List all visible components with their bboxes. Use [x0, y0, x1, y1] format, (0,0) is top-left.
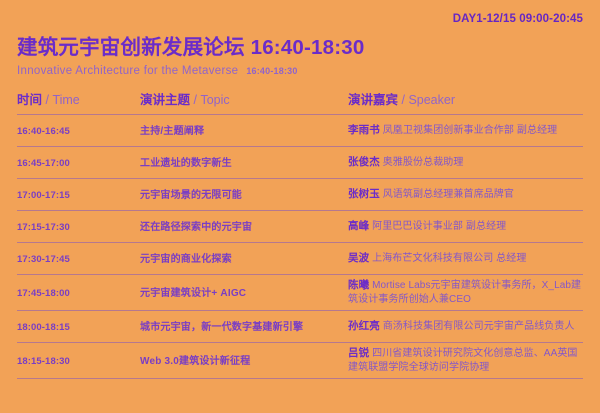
cell-speaker: 陈曦 Mortise Labs元宇宙建筑设计事务所，X_Lab建筑设计事务所创始… [348, 278, 583, 307]
session-topic: Web 3.0建筑设计新征程 [140, 356, 250, 367]
cell-topic: 工业遗址的数字新生 [140, 153, 348, 171]
cell-time: 17:00-17:15 [17, 185, 140, 203]
column-header-speaker: 演讲嘉宾 / Speaker [348, 93, 583, 108]
session-topic: 元宇宙建筑设计+ AIGC [140, 288, 246, 299]
session-topic: 元宇宙场景的无限可能 [140, 190, 242, 201]
table-row: 17:00-17:15 元宇宙场景的无限可能 张树玉 风语筑副总经理兼首席品牌官 [17, 179, 583, 211]
page-title: 建筑元宇宙创新发展论坛 16:40-18:30 [17, 35, 583, 61]
cell-topic: 城市元宇宙，新一代数字基建新引擎 [140, 317, 348, 335]
speaker-name: 陈曦 [348, 279, 369, 291]
speaker-title: 风语筑副总经理兼首席品牌官 [383, 189, 514, 200]
column-header-time-cn: 时间 [17, 93, 42, 107]
session-topic: 元宇宙的商业化探索 [140, 254, 232, 265]
top-bar: DAY1-12/15 09:00-20:45 [17, 0, 583, 30]
cell-topic: 主持/主题阐释 [140, 121, 348, 139]
speaker-title: 商汤科技集团有限公司元宇宙产品线负责人 [383, 321, 575, 332]
cell-speaker: 李雨书 凤凰卫视集团创新事业合作部 副总经理 [348, 123, 583, 138]
cell-time: 16:40-16:45 [17, 121, 140, 139]
schedule-poster: DAY1-12/15 09:00-20:45 建筑元宇宙创新发展论坛 16:40… [0, 0, 600, 413]
cell-time: 17:30-17:45 [17, 249, 140, 267]
cell-speaker: 张俊杰 奥雅股份总裁助理 [348, 155, 583, 170]
table-row: 17:30-17:45 元宇宙的商业化探索 吴波 上海布芒文化科技有限公司 总经… [17, 243, 583, 275]
session-time: 17:15-17:30 [17, 222, 70, 233]
speaker-name: 李雨书 [348, 124, 380, 136]
column-header-topic-cn: 演讲主题 [140, 93, 190, 107]
cell-time: 16:45-17:00 [17, 153, 140, 171]
cell-topic: 元宇宙的商业化探索 [140, 249, 348, 267]
speaker-name: 孙红亮 [348, 320, 380, 332]
session-topic: 工业遗址的数字新生 [140, 158, 232, 169]
speaker-name: 张树玉 [348, 188, 380, 200]
session-time: 16:45-17:00 [17, 158, 70, 169]
column-header-speaker-cn: 演讲嘉宾 [348, 93, 398, 107]
speaker-title: 上海布芒文化科技有限公司 总经理 [372, 253, 526, 264]
speaker-title: Mortise Labs元宇宙建筑设计事务所，X_Lab建筑设计事务所创始人兼C… [348, 280, 581, 305]
cell-topic: 元宇宙场景的无限可能 [140, 185, 348, 203]
speaker-name: 高峰 [348, 220, 369, 232]
subtitle-time: 16:40-18:30 [246, 66, 297, 76]
speaker-title: 阿里巴巴设计事业部 副总经理 [372, 221, 506, 232]
column-header-speaker-en: Speaker [408, 93, 455, 107]
schedule-table: 时间 / Time 演讲主题 / Topic 演讲嘉宾 / Speaker 16… [17, 89, 583, 379]
speaker-title: 凤凰卫视集团创新事业合作部 副总经理 [383, 125, 558, 136]
session-time: 18:15-18:30 [17, 356, 70, 367]
column-header-topic-en: Topic [200, 93, 229, 107]
table-row: 17:15-17:30 还在路径探索中的元宇宙 高峰 阿里巴巴设计事业部 副总经… [17, 211, 583, 243]
table-header-row: 时间 / Time 演讲主题 / Topic 演讲嘉宾 / Speaker [17, 89, 583, 115]
speaker-title: 四川省建筑设计研究院文化创意总监、AA英国建筑联盟学院全球访问学院协理 [348, 348, 578, 373]
session-topic: 主持/主题阐释 [140, 126, 204, 137]
column-header-time-sep: / [42, 93, 52, 107]
cell-speaker: 孙红亮 商汤科技集团有限公司元宇宙产品线负责人 [348, 319, 583, 334]
subtitle-english: Innovative Architecture for the Metavers… [17, 65, 238, 77]
cell-time: 17:45-18:00 [17, 283, 140, 301]
column-header-time-en: Time [52, 93, 79, 107]
table-row: 16:45-17:00 工业遗址的数字新生 张俊杰 奥雅股份总裁助理 [17, 147, 583, 179]
table-row: 18:00-18:15 城市元宇宙，新一代数字基建新引擎 孙红亮 商汤科技集团有… [17, 311, 583, 343]
cell-speaker: 张树玉 风语筑副总经理兼首席品牌官 [348, 187, 583, 202]
title-block: 建筑元宇宙创新发展论坛 16:40-18:30 Innovative Archi… [17, 35, 583, 77]
table-row: 17:45-18:00 元宇宙建筑设计+ AIGC 陈曦 Mortise Lab… [17, 275, 583, 311]
cell-topic: 元宇宙建筑设计+ AIGC [140, 283, 348, 301]
speaker-name: 吕锐 [348, 347, 369, 359]
cell-topic: 还在路径探索中的元宇宙 [140, 217, 348, 235]
speaker-name: 张俊杰 [348, 156, 380, 168]
session-time: 17:30-17:45 [17, 254, 70, 265]
cell-topic: Web 3.0建筑设计新征程 [140, 351, 348, 369]
speaker-title: 奥雅股份总裁助理 [383, 157, 464, 168]
column-header-topic: 演讲主题 / Topic [140, 93, 348, 108]
table-row: 18:15-18:30 Web 3.0建筑设计新征程 吕锐 四川省建筑设计研究院… [17, 343, 583, 379]
cell-speaker: 高峰 阿里巴巴设计事业部 副总经理 [348, 219, 583, 234]
column-header-time: 时间 / Time [17, 93, 140, 108]
session-time: 16:40-16:45 [17, 126, 70, 137]
session-time: 18:00-18:15 [17, 322, 70, 333]
speaker-name: 吴波 [348, 252, 369, 264]
column-header-topic-sep: / [190, 93, 200, 107]
column-header-speaker-sep: / [398, 93, 408, 107]
session-time: 17:00-17:15 [17, 190, 70, 201]
subtitle-row: Innovative Architecture for the Metavers… [17, 65, 583, 77]
cell-speaker: 吕锐 四川省建筑设计研究院文化创意总监、AA英国建筑联盟学院全球访问学院协理 [348, 346, 583, 375]
session-time: 17:45-18:00 [17, 288, 70, 299]
cell-time: 18:15-18:30 [17, 351, 140, 369]
session-topic: 城市元宇宙，新一代数字基建新引擎 [140, 322, 303, 333]
table-row: 16:40-16:45 主持/主题阐释 李雨书 凤凰卫视集团创新事业合作部 副总… [17, 115, 583, 147]
session-topic: 还在路径探索中的元宇宙 [140, 222, 252, 233]
cell-speaker: 吴波 上海布芒文化科技有限公司 总经理 [348, 251, 583, 266]
cell-time: 17:15-17:30 [17, 217, 140, 235]
day-label: DAY1-12/15 09:00-20:45 [453, 13, 583, 25]
cell-time: 18:00-18:15 [17, 317, 140, 335]
